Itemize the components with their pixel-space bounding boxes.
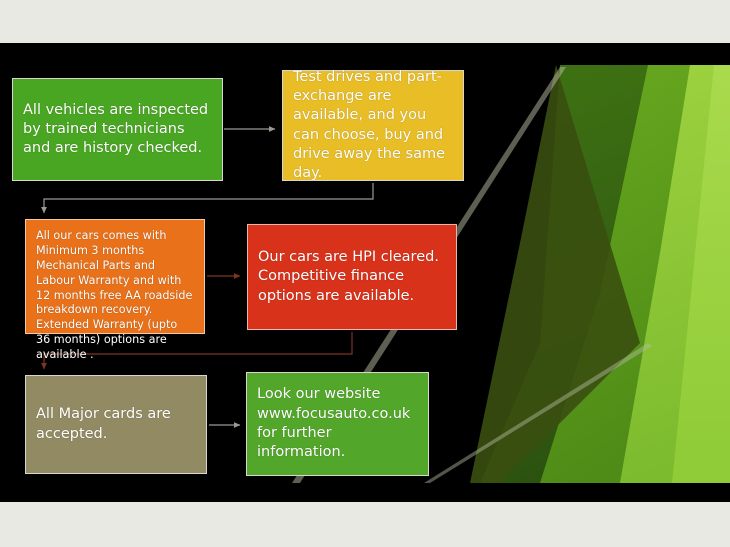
flow-node-website[interactable]: Look our website www.focusauto.co.uk for… (246, 372, 429, 476)
connector-test-drives-to-warranty (44, 183, 373, 213)
slide-viewport: All vehicles are inspected by trained te… (0, 0, 730, 547)
flow-node-test-drives[interactable]: Test drives and part-exchange are availa… (282, 70, 464, 181)
flow-node-hpi-finance-text: Our cars are HPI cleared. Competitive fi… (258, 248, 446, 306)
flow-node-inspection[interactable]: All vehicles are inspected by trained te… (12, 78, 223, 181)
flow-node-warranty[interactable]: All our cars comes with Minimum 3 months… (25, 219, 205, 334)
flow-node-inspection-text: All vehicles are inspected by trained te… (23, 101, 212, 159)
flow-node-test-drives-text: Test drives and part-exchange are availa… (293, 68, 453, 184)
flow-node-website-text: Look our website www.focusauto.co.uk for… (257, 385, 418, 462)
flow-node-cards[interactable]: All Major cards are accepted. (25, 375, 207, 474)
flow-node-cards-text: All Major cards are accepted. (36, 405, 196, 444)
flow-node-warranty-text: All our cars comes with Minimum 3 months… (36, 229, 194, 363)
slide-canvas: All vehicles are inspected by trained te… (0, 43, 730, 502)
flow-node-hpi-finance[interactable]: Our cars are HPI cleared. Competitive fi… (247, 224, 457, 330)
